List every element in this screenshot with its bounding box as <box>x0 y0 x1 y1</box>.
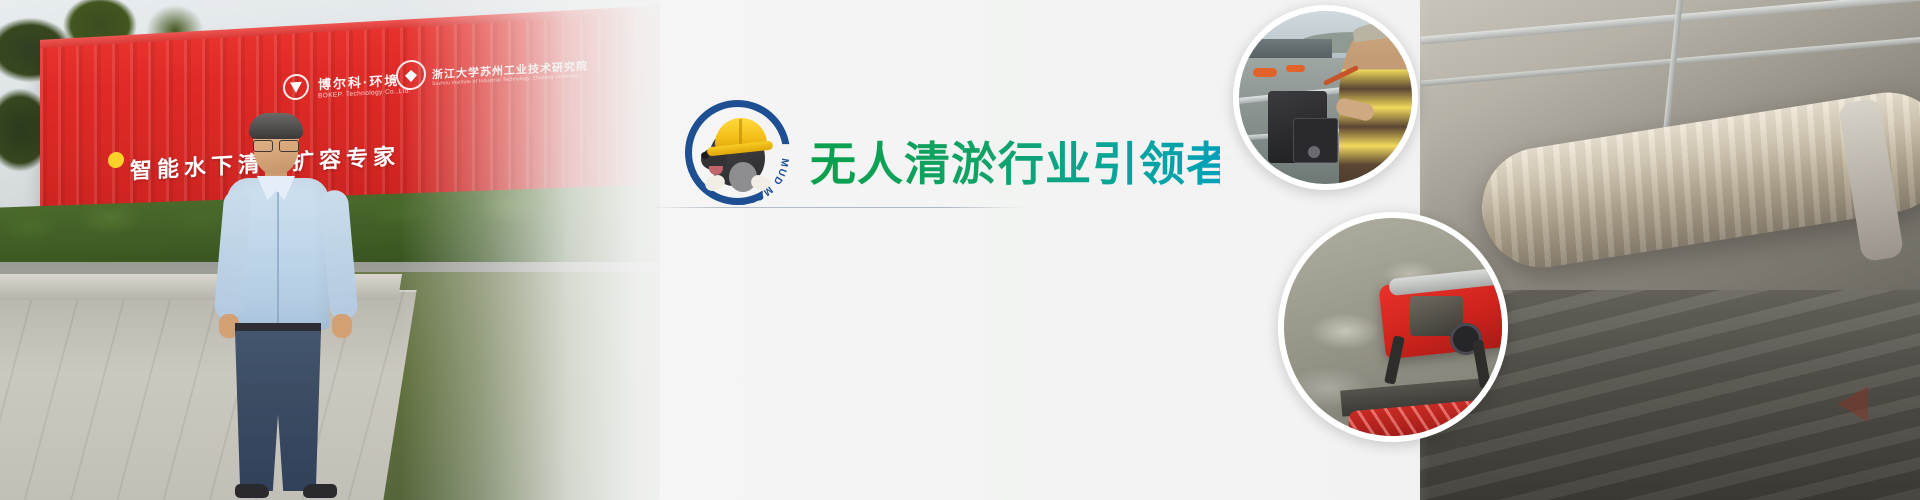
person-right-shoe <box>303 484 337 498</box>
person-left-shoe <box>235 484 269 498</box>
logo-arc-text: MUD MOLE <box>685 100 790 205</box>
person-figure <box>215 118 355 500</box>
person-hair <box>249 113 303 139</box>
logo-arc-label: MUD MOLE <box>738 158 790 207</box>
banner-center-block: MUD MOLE 无人清淤行业引领者 <box>660 0 1030 500</box>
handrail-top <box>1421 0 1920 45</box>
water-float-2 <box>1286 65 1305 72</box>
person-right-hand <box>332 314 352 338</box>
operator-photo-circle <box>1233 5 1418 190</box>
glasses-icon <box>252 140 300 150</box>
left-photo: 博尔科·环境 BOKEP. Technology Co.,Ltd. 浙江大学苏州… <box>0 0 660 500</box>
title-divider <box>650 207 1025 208</box>
hero-banner: 博尔科·环境 BOKEP. Technology Co.,Ltd. 浙江大学苏州… <box>0 0 1920 500</box>
water-float-1 <box>1253 68 1277 77</box>
person-shirt-placket <box>277 192 279 324</box>
person-pants <box>235 331 321 491</box>
mud-mole-logo: MUD MOLE <box>685 100 790 205</box>
operator-building <box>1242 39 1332 60</box>
direction-arrow-icon <box>1838 386 1868 422</box>
page-title: 无人清淤行业引领者 <box>810 128 1233 194</box>
dredging-robot-photo-circle <box>1278 212 1508 442</box>
right-photo-group <box>1220 0 1920 500</box>
